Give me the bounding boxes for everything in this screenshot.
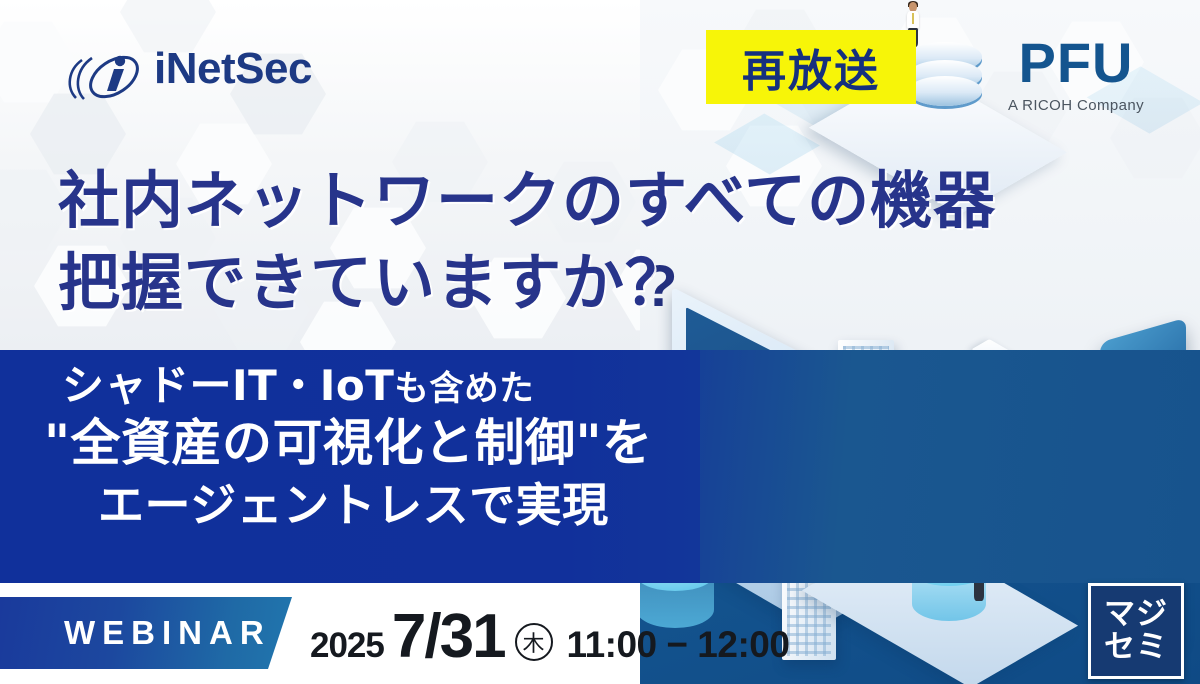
- subhead-line-3: エージェントレスで実現: [0, 476, 760, 536]
- subhead-line-1-tail: も含めた: [394, 369, 534, 409]
- event-day-of-week: 木: [515, 623, 553, 661]
- webinar-label: WEBINAR: [0, 614, 271, 652]
- rerun-badge: 再放送: [706, 30, 916, 104]
- inetsec-wordmark: iNetSec: [154, 44, 312, 94]
- subhead-line-2: "全資産の可視化と制御"を: [0, 411, 760, 476]
- event-time: 11:00 − 12:00: [567, 624, 790, 666]
- footer: WEBINAR 2025 7/31 木 11:00 − 12:00: [0, 597, 1200, 684]
- webinar-banner: ?: [0, 0, 1200, 684]
- majiseme-badge: マジ セミ: [1088, 583, 1184, 679]
- webinar-tag: WEBINAR: [0, 597, 292, 669]
- inetsec-logo: iNetSec: [62, 42, 362, 104]
- server-stack-icon: [908, 42, 982, 116]
- rerun-badge-label: 再放送: [742, 35, 880, 99]
- pfu-tagline: A RICOH Company: [986, 97, 1166, 114]
- subhead-line-3-tail: で実現: [469, 478, 609, 532]
- headline-line-2: 把握できていますか？: [58, 242, 996, 324]
- pfu-wordmark: PFU: [986, 34, 1166, 93]
- subhead-line-1-main: シャドーIT・IoT: [62, 361, 394, 410]
- event-month-day: 7/31: [392, 601, 505, 672]
- pfu-logo: PFU A RICOH Company: [986, 34, 1166, 126]
- majiseme-line-1: マジ: [1104, 598, 1168, 631]
- subhead-text: シャドーIT・IoTも含めた "全資産の可視化と制御"を エージェントレスで実現: [0, 350, 760, 583]
- inetsec-swoosh-icon: [62, 52, 154, 102]
- headline-line-1: 社内ネットワークのすべての機器: [58, 160, 996, 242]
- majiseme-line-2: セミ: [1104, 631, 1168, 664]
- event-datetime: 2025 7/31 木 11:00 − 12:00: [310, 601, 789, 672]
- event-year: 2025: [310, 626, 384, 666]
- subhead-line-1: シャドーIT・IoTも含めた: [0, 360, 760, 411]
- page-title: 社内ネットワークのすべての機器 把握できていますか？: [58, 160, 996, 324]
- subhead-line-3-main: エージェントレス: [98, 478, 469, 532]
